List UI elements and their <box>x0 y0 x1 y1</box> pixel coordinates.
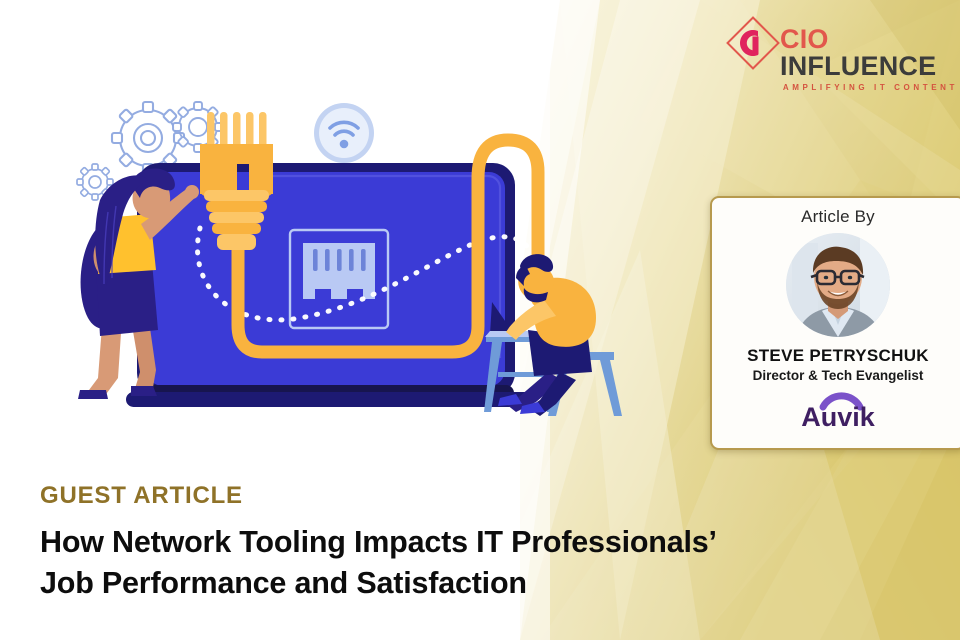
avatar-photo <box>786 233 890 337</box>
author-role: Director & Tech Evangelist <box>712 368 960 383</box>
headline-line-2: Job Performance and Satisfaction <box>40 563 880 604</box>
page-title: How Network Tooling Impacts IT Professio… <box>40 522 880 604</box>
wifi-icon <box>314 103 374 163</box>
eyebrow-label: GUEST ARTICLE <box>40 482 890 510</box>
article-by-label: Article By <box>712 207 960 227</box>
auvik-wordmark: Auvik <box>801 402 876 430</box>
author-card: Article By <box>710 196 960 450</box>
author-name: STEVE PETRYSCHUK <box>712 346 960 366</box>
auvik-logo[interactable]: Auvik <box>712 388 960 435</box>
author-avatar <box>786 233 890 337</box>
headline-line-1: How Network Tooling Impacts IT Professio… <box>40 522 880 563</box>
headline-block: GUEST ARTICLE How Network Tooling Impact… <box>40 482 890 604</box>
banner-canvas: CIOINFLUENCE AMPLIFYING IT CONTENT <box>0 0 960 640</box>
